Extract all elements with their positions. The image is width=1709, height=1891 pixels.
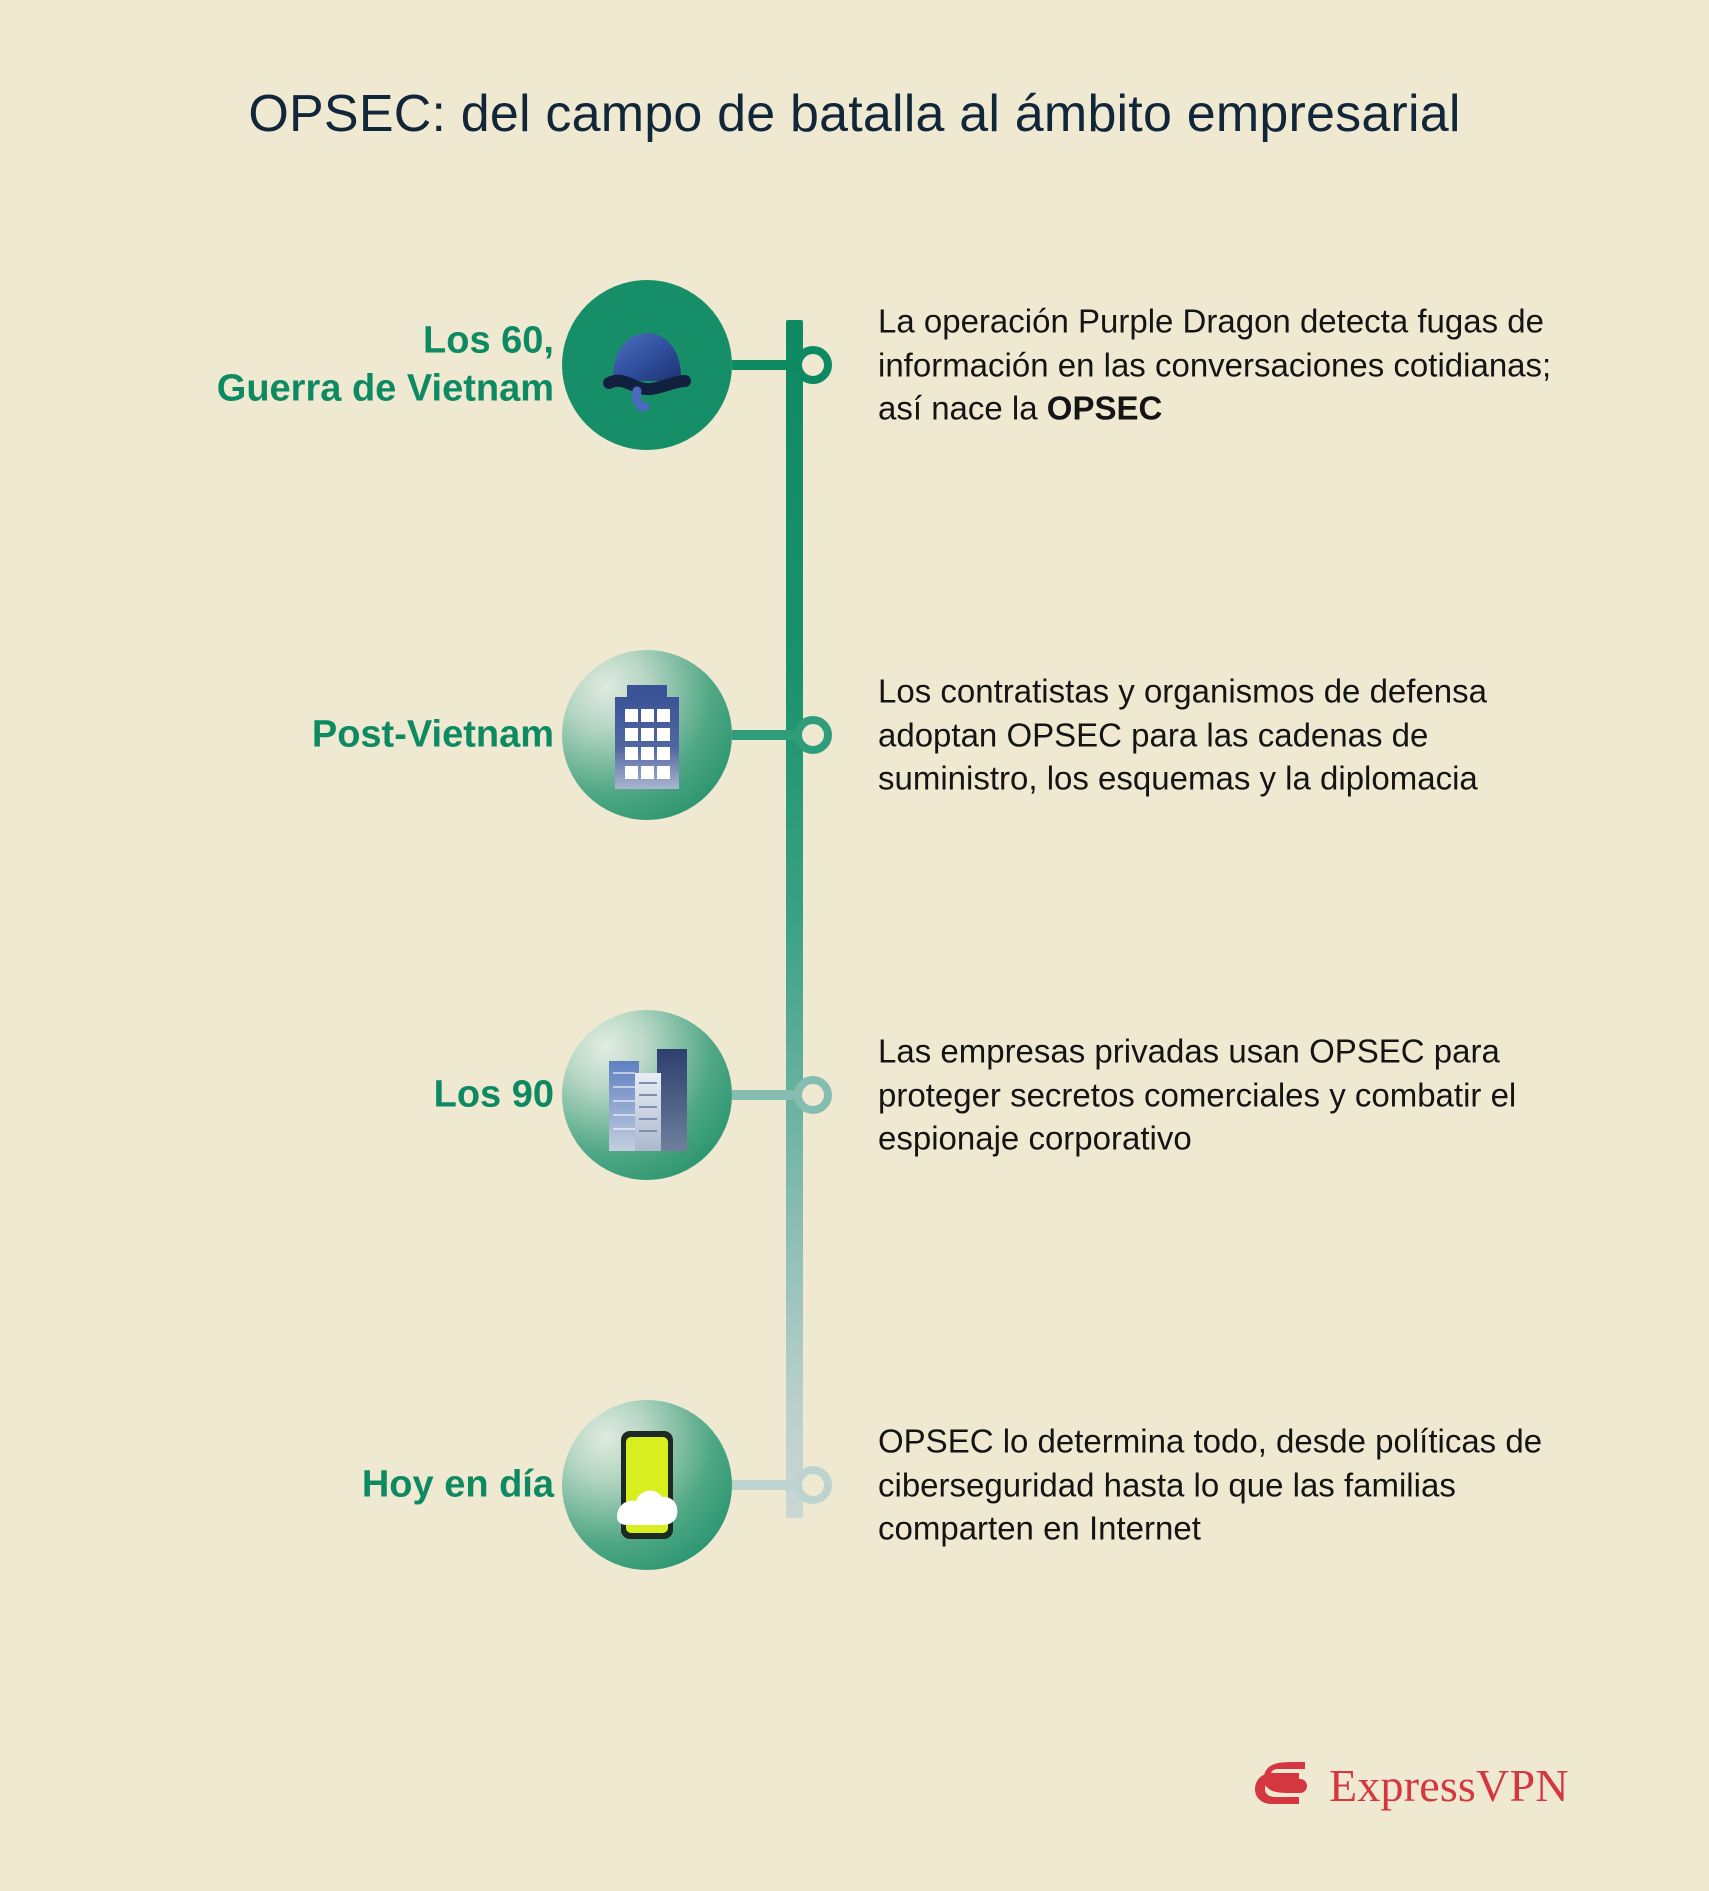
description-text: Los contratistas y organismos de defensa…: [878, 673, 1487, 797]
brand-name: ExpressVPN: [1329, 1759, 1569, 1812]
node-icon-circle: [562, 1400, 732, 1570]
description-text: La operación Purple Dragon detecta fugas…: [878, 303, 1551, 427]
era-description: Los contratistas y organismos de defensa…: [878, 670, 1578, 801]
infographic-page: OPSEC: del campo de batalla al ámbito em…: [0, 0, 1709, 1891]
timeline-connector: [732, 341, 862, 389]
corporate-towers-icon: [597, 1039, 697, 1151]
timeline-node-dot: [794, 716, 832, 754]
era-label: Hoy en día: [34, 1461, 554, 1509]
era-label: Los 60, Guerra de Vietnam: [34, 318, 554, 413]
description-text: OPSEC lo determina todo, desde políticas…: [878, 1423, 1542, 1547]
timeline-node-dot: [794, 1466, 832, 1504]
era-label: Los 90: [34, 1071, 554, 1119]
timeline-row: Hoy en día OPSEC lo determina todo, desd…: [0, 1380, 1709, 1590]
description-text: Las empresas privadas usan OPSEC para pr…: [878, 1033, 1516, 1157]
timeline-row: Post-Vietnam: [0, 630, 1709, 840]
expressvpn-e-icon: [1253, 1752, 1315, 1819]
node-icon-circle: [562, 1010, 732, 1180]
expressvpn-logo: ExpressVPN: [1253, 1752, 1569, 1819]
page-title: OPSEC: del campo de batalla al ámbito em…: [0, 84, 1709, 144]
node-icon-circle: [562, 650, 732, 820]
smartphone-cloud-icon: [607, 1429, 687, 1541]
timeline-connector: [732, 1461, 862, 1509]
timeline-connector: [732, 1071, 862, 1119]
era-description: OPSEC lo determina todo, desde políticas…: [878, 1420, 1578, 1551]
office-building-icon: [601, 681, 693, 789]
era-description: Las empresas privadas usan OPSEC para pr…: [878, 1030, 1578, 1161]
timeline-node-dot: [794, 346, 832, 384]
timeline-row: Los 90: [0, 990, 1709, 1200]
era-description: La operación Purple Dragon detecta fugas…: [878, 300, 1578, 431]
timeline-row: Los 60, Guerra de Vietnam: [0, 260, 1709, 470]
era-label: Post-Vietnam: [34, 711, 554, 759]
timeline-connector: [732, 711, 862, 759]
timeline-node-dot: [794, 1076, 832, 1114]
description-emphasis: OPSEC: [1047, 390, 1163, 427]
timeline-spine: [786, 320, 803, 1518]
military-helmet-icon: [595, 313, 699, 417]
timeline: Los 60, Guerra de Vietnam: [0, 230, 1709, 1620]
node-icon-circle: [562, 280, 732, 450]
